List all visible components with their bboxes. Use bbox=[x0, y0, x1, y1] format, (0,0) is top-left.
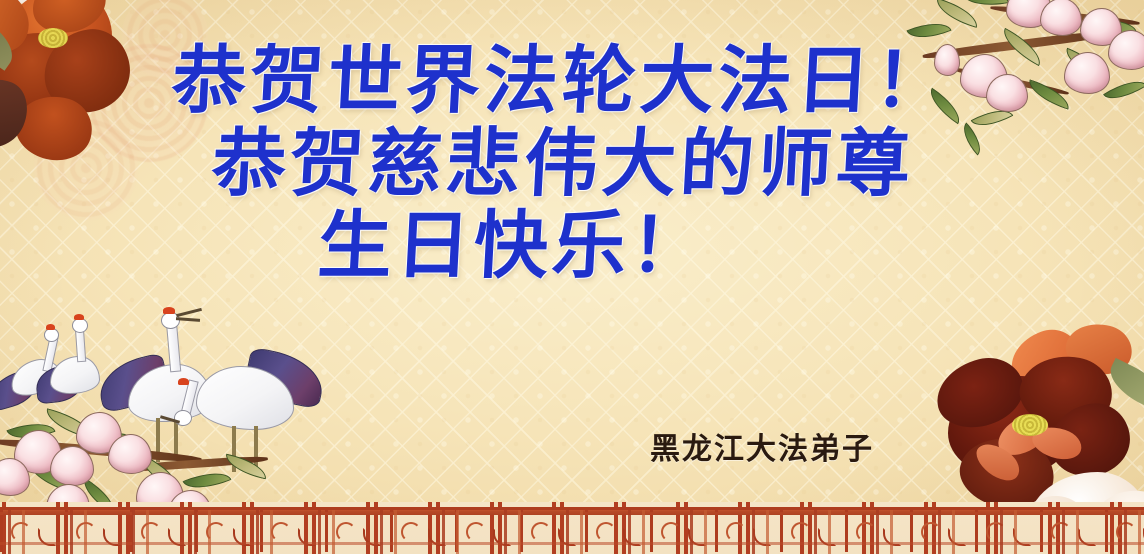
railing-unit bbox=[195, 507, 260, 552]
signature-text: 黑龙江大法弟子 bbox=[650, 424, 874, 468]
greeting-text-block: 恭贺世界法轮大法日！ 恭贺慈悲伟大的师尊 生日快乐！ bbox=[0, 44, 1144, 284]
railing-unit bbox=[1040, 507, 1105, 552]
railing-unit bbox=[585, 507, 650, 552]
railing-unit bbox=[650, 507, 715, 552]
railing-unit bbox=[325, 507, 390, 552]
greeting-line-2: 恭贺慈悲伟大的师尊 bbox=[0, 127, 1144, 202]
railing-unit bbox=[65, 507, 130, 552]
greeting-line-3: 生日快乐！ bbox=[0, 209, 1144, 284]
railing-unit bbox=[130, 507, 195, 552]
bottom-lattice-railing bbox=[0, 502, 1144, 554]
railing-scroll-pattern bbox=[0, 510, 1144, 552]
railing-unit bbox=[0, 507, 65, 552]
railing-unit bbox=[1105, 507, 1144, 552]
railing-unit bbox=[780, 507, 845, 552]
railing-unit bbox=[390, 507, 455, 552]
railing-unit bbox=[975, 507, 1040, 552]
railing-unit bbox=[910, 507, 975, 552]
railing-unit bbox=[715, 507, 780, 552]
railing-unit bbox=[455, 507, 520, 552]
railing-unit bbox=[520, 507, 585, 552]
greeting-card: 恭贺世界法轮大法日！ 恭贺慈悲伟大的师尊 生日快乐！ 黑龙江大法弟子 bbox=[0, 0, 1144, 554]
greeting-line-1: 恭贺世界法轮大法日！ bbox=[0, 44, 1144, 119]
railing-unit bbox=[260, 507, 325, 552]
railing-unit bbox=[845, 507, 910, 552]
